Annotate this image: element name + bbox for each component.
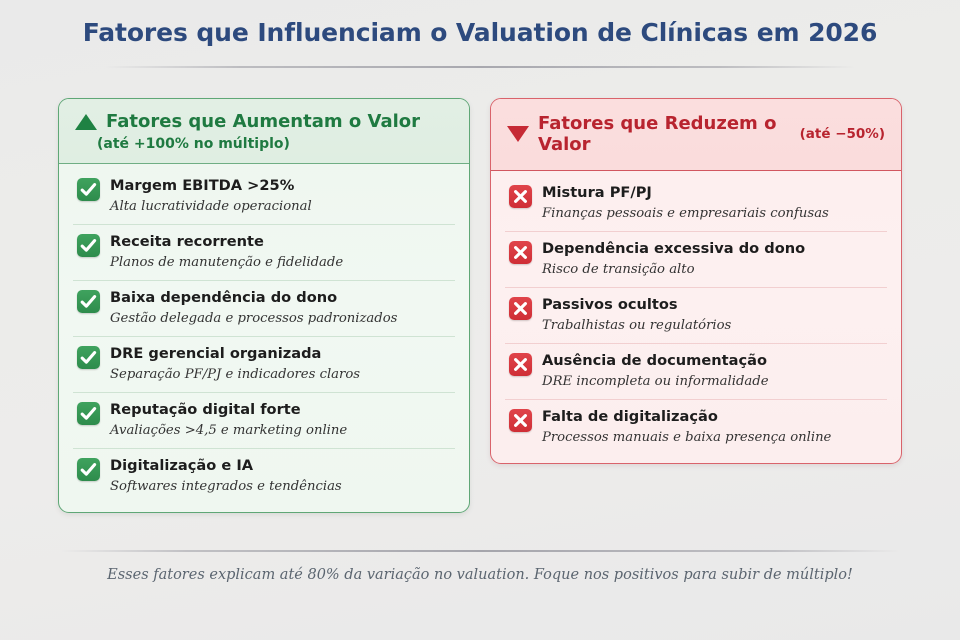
list-item-text: Dependência excessiva do donoRisco de tr… xyxy=(542,240,805,278)
check-icon xyxy=(77,402,100,425)
check-icon xyxy=(77,458,100,481)
list-item-title: Margem EBITDA >25% xyxy=(110,177,312,195)
list-item-subtitle: Finanças pessoais e empresariais confusa… xyxy=(542,205,829,222)
list-item-title: Baixa dependência do dono xyxy=(110,289,397,307)
list-item-subtitle: Separação PF/PJ e indicadores claros xyxy=(110,366,360,383)
cross-icon xyxy=(509,353,532,376)
list-item-subtitle: Risco de transição alto xyxy=(542,261,805,278)
list-item-title: Reputação digital forte xyxy=(110,401,347,419)
negative-items-list: Mistura PF/PJFinanças pessoais e empresa… xyxy=(491,171,901,463)
panels-container: Fatores que Aumentam o Valor (até +100% … xyxy=(0,98,960,513)
list-item-title: Mistura PF/PJ xyxy=(542,184,829,202)
list-item-subtitle: Planos de manutenção e fidelidade xyxy=(110,254,343,271)
check-icon xyxy=(77,178,100,201)
positive-panel-subtitle: (até +100% no múltiplo) xyxy=(97,136,453,152)
infographic-page: Fatores que Influenciam o Valuation de C… xyxy=(0,0,960,640)
list-item: Digitalização e IASoftwares integrados e… xyxy=(59,448,469,504)
list-item: Baixa dependência do donoGestão delegada… xyxy=(59,280,469,336)
list-item: DRE gerencial organizadaSeparação PF/PJ … xyxy=(59,336,469,392)
negative-panel-subtitle: (até −50%) xyxy=(800,126,885,142)
list-item-title: DRE gerencial organizada xyxy=(110,345,360,363)
list-item: Passivos ocultosTrabalhistas ou regulató… xyxy=(491,287,901,343)
check-icon xyxy=(77,290,100,313)
list-item-text: Mistura PF/PJFinanças pessoais e empresa… xyxy=(542,184,829,222)
negative-factors-panel: Fatores que Reduzem o Valor (até −50%) M… xyxy=(490,98,902,464)
cross-icon xyxy=(509,185,532,208)
title-area: Fatores que Influenciam o Valuation de C… xyxy=(0,18,960,47)
list-item-text: Baixa dependência do donoGestão delegada… xyxy=(110,289,397,327)
list-item-subtitle: Softwares integrados e tendências xyxy=(110,478,342,495)
list-item-title: Digitalização e IA xyxy=(110,457,342,475)
triangle-down-icon xyxy=(507,126,529,142)
list-item-text: Ausência de documentaçãoDRE incompleta o… xyxy=(542,352,769,390)
list-item: Ausência de documentaçãoDRE incompleta o… xyxy=(491,343,901,399)
positive-panel-heading: Fatores que Aumentam o Valor xyxy=(106,111,420,132)
negative-panel-header: Fatores que Reduzem o Valor (até −50%) xyxy=(491,99,901,171)
list-item-text: DRE gerencial organizadaSeparação PF/PJ … xyxy=(110,345,360,383)
list-item: Reputação digital forteAvaliações >4,5 e… xyxy=(59,392,469,448)
check-icon xyxy=(77,234,100,257)
list-item-title: Falta de digitalização xyxy=(542,408,831,426)
list-item: Margem EBITDA >25%Alta lucratividade ope… xyxy=(59,168,469,224)
cross-icon xyxy=(509,297,532,320)
list-item-subtitle: Gestão delegada e processos padronizados xyxy=(110,310,397,327)
list-item: Mistura PF/PJFinanças pessoais e empresa… xyxy=(491,175,901,231)
list-item-title: Dependência excessiva do dono xyxy=(542,240,805,258)
list-item: Falta de digitalizaçãoProcessos manuais … xyxy=(491,399,901,455)
positive-factors-panel: Fatores que Aumentam o Valor (até +100% … xyxy=(58,98,470,513)
list-item-text: Reputação digital forteAvaliações >4,5 e… xyxy=(110,401,347,439)
positive-header-line: Fatores que Aumentam o Valor xyxy=(75,111,453,132)
negative-panel-heading: Fatores que Reduzem o Valor xyxy=(538,113,784,155)
list-item-text: Digitalização e IASoftwares integrados e… xyxy=(110,457,342,495)
list-item-title: Receita recorrente xyxy=(110,233,343,251)
list-item-subtitle: Alta lucratividade operacional xyxy=(110,198,312,215)
positive-panel-header: Fatores que Aumentam o Valor (até +100% … xyxy=(59,99,469,164)
footer-note: Esses fatores explicam até 80% da variaç… xyxy=(0,567,960,583)
list-item-text: Passivos ocultosTrabalhistas ou regulató… xyxy=(542,296,731,334)
list-item-text: Falta de digitalizaçãoProcessos manuais … xyxy=(542,408,831,446)
list-item-title: Ausência de documentação xyxy=(542,352,769,370)
triangle-up-icon xyxy=(75,114,97,130)
list-item-subtitle: DRE incompleta ou informalidade xyxy=(542,373,769,390)
list-item-subtitle: Processos manuais e baixa presença onlin… xyxy=(542,429,831,446)
list-item-title: Passivos ocultos xyxy=(542,296,731,314)
check-icon xyxy=(77,346,100,369)
list-item: Dependência excessiva do donoRisco de tr… xyxy=(491,231,901,287)
list-item-subtitle: Trabalhistas ou regulatórios xyxy=(542,317,731,334)
cross-icon xyxy=(509,241,532,264)
footer-divider xyxy=(60,550,900,552)
list-item-subtitle: Avaliações >4,5 e marketing online xyxy=(110,422,347,439)
cross-icon xyxy=(509,409,532,432)
list-item-text: Margem EBITDA >25%Alta lucratividade ope… xyxy=(110,177,312,215)
list-item-text: Receita recorrentePlanos de manutenção e… xyxy=(110,233,343,271)
list-item: Receita recorrentePlanos de manutenção e… xyxy=(59,224,469,280)
positive-items-list: Margem EBITDA >25%Alta lucratividade ope… xyxy=(59,164,469,512)
negative-header-line: Fatores que Reduzem o Valor (até −50%) xyxy=(507,113,885,155)
title-divider xyxy=(105,66,855,68)
page-title: Fatores que Influenciam o Valuation de C… xyxy=(0,18,960,47)
